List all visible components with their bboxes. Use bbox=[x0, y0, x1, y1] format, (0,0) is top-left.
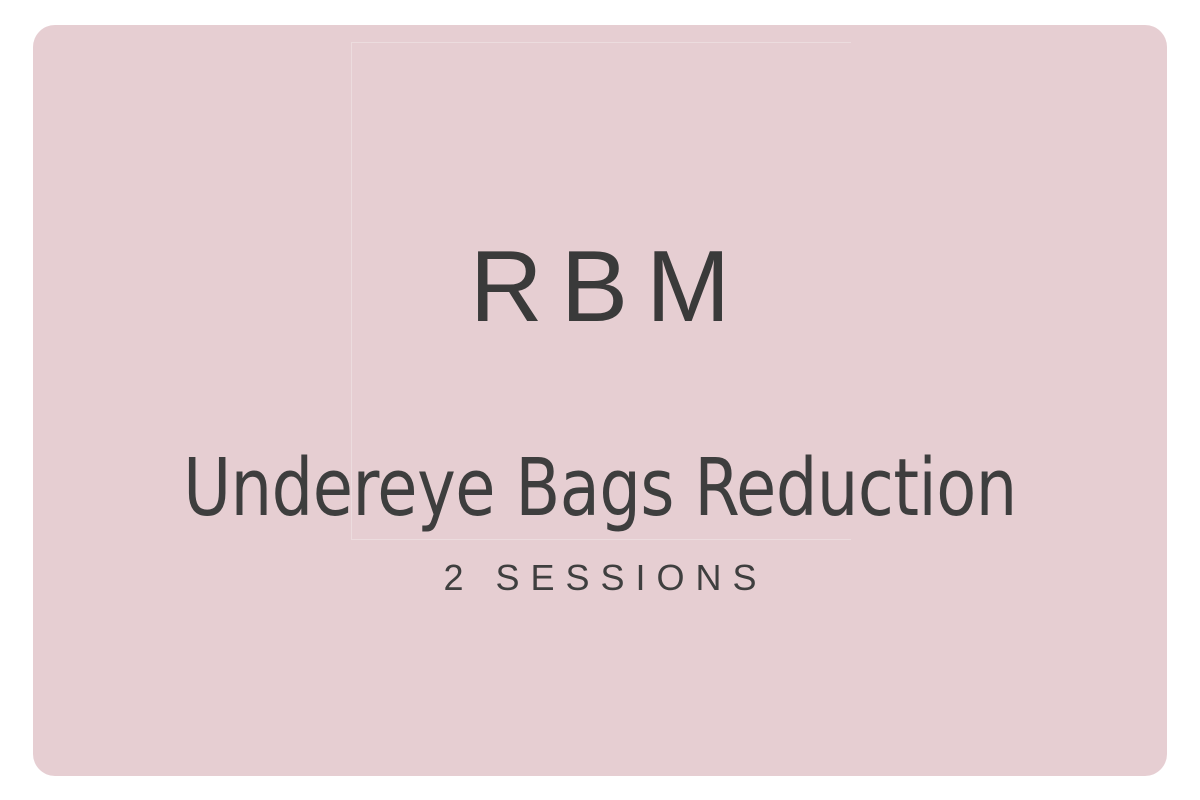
service-name: Undereye Bags Reduction bbox=[78, 449, 1121, 528]
brand-title: RBM bbox=[33, 237, 1167, 338]
page-canvas: RBM Undereye Bags Reduction 2 SESSIONS bbox=[0, 0, 1200, 800]
promo-card: RBM Undereye Bags Reduction 2 SESSIONS bbox=[33, 25, 1167, 776]
card-content: RBM Undereye Bags Reduction 2 SESSIONS bbox=[33, 25, 1167, 776]
session-count-label: 2 SESSIONS bbox=[33, 560, 1167, 596]
